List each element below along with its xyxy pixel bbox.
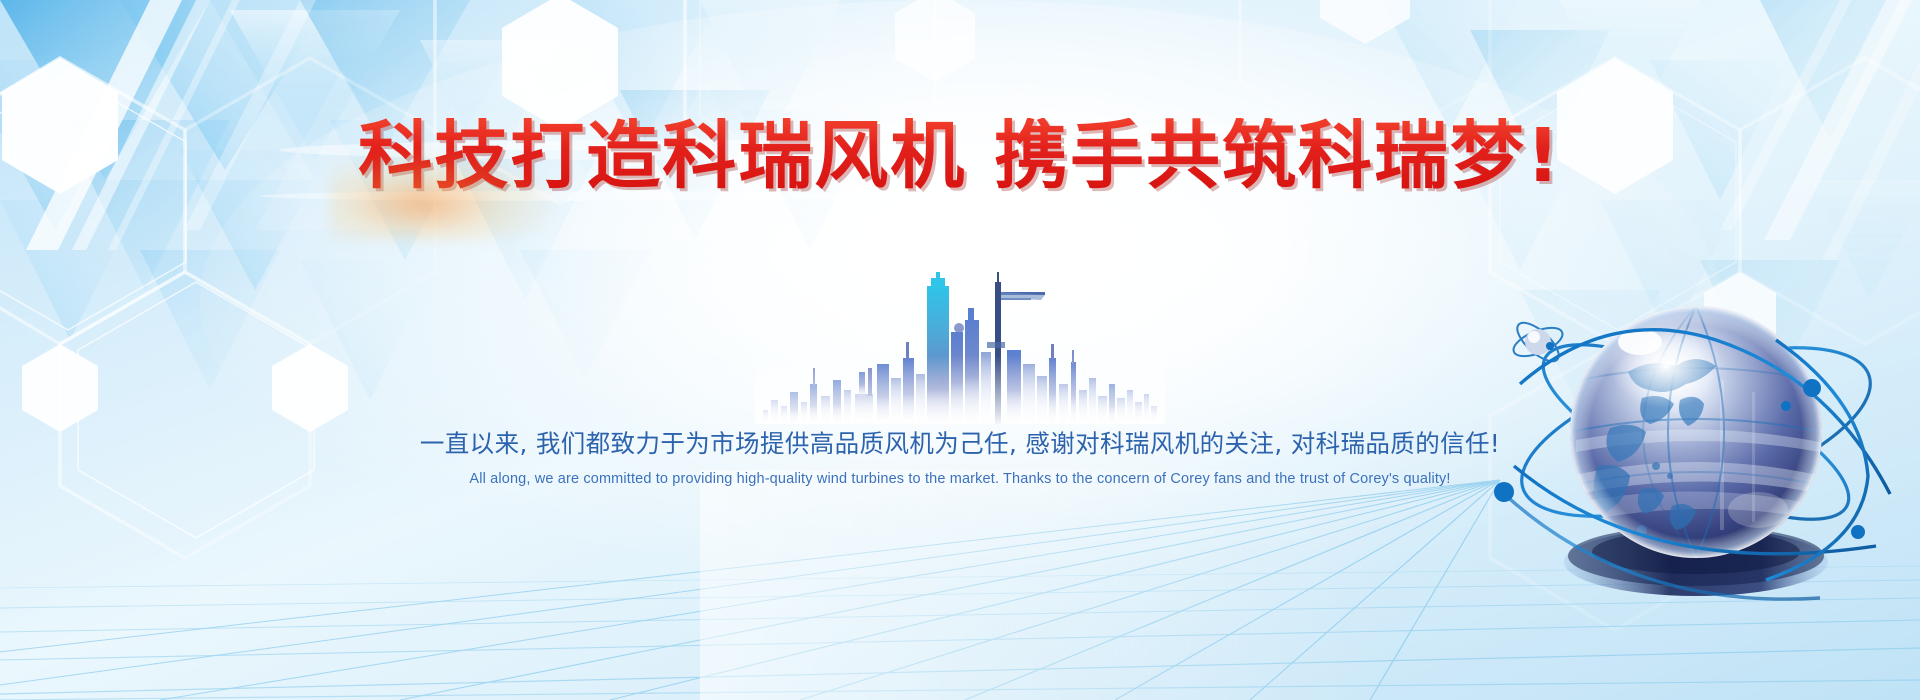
page-title: 科技打造科瑞风机 携手共筑科瑞梦!	[358, 118, 1562, 196]
subtitle-english: All along, we are committed to providing…	[0, 471, 1920, 487]
promo-banner: 科技打造科瑞风机 携手共筑科瑞梦! 科技打造科瑞风机 携手共筑科瑞梦! 一直以来…	[0, 0, 1920, 700]
background-decoration	[0, 0, 1920, 700]
headline-block: 科技打造科瑞风机 携手共筑科瑞梦! 科技打造科瑞风机 携手共筑科瑞梦!	[0, 118, 1920, 196]
hexagon-node	[22, 344, 98, 432]
hexagon-node	[1320, 0, 1410, 44]
subtitle-chinese: 一直以来, 我们都致力于为市场提供高品质风机为己任, 感谢对科瑞风机的关注, 对…	[0, 425, 1920, 460]
